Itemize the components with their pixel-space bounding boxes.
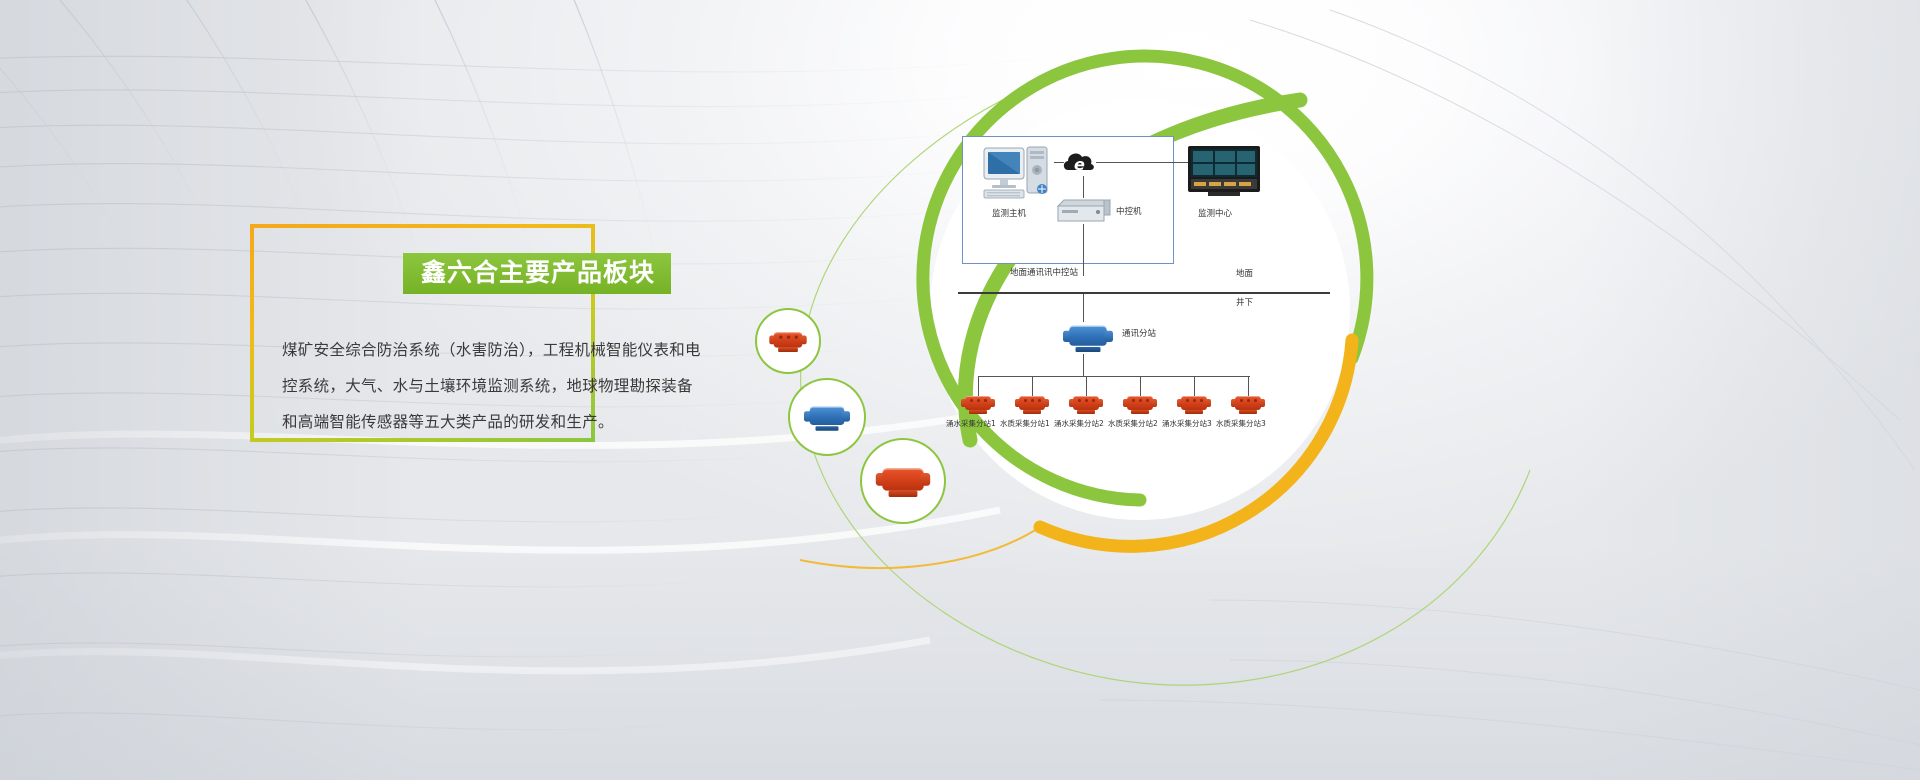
monitor-host-icon [982,144,1054,206]
product-bubble-3[interactable] [860,438,946,524]
substation-device [1231,394,1265,414]
label-underground: 井下 [1236,299,1253,308]
substation-device [1069,394,1103,414]
comm-substation-device [1063,322,1103,346]
substation-device [1123,394,1157,414]
label-ground-comm-station: 地面通讯讯中控站 [1010,269,1078,278]
product-bubble-1[interactable] [755,308,821,374]
page-title: 鑫六合主要产品板块 [421,260,655,285]
label-substation-3: 涌水采集分站2 [1054,420,1104,428]
internet-cloud-icon: e [1062,148,1096,178]
svg-text:e: e [1074,155,1085,174]
water-collection-box-orange-icon [876,465,930,497]
system-architecture-diagram: 监测主机 e 中控机 监测中心 [950,136,1345,476]
product-diagram-composition: 监测主机 e 中控机 监测中心 [740,40,1920,740]
label-monitor-center: 监测中心 [1198,210,1232,219]
label-central-controller: 中控机 [1116,208,1142,217]
substation-device [1177,394,1211,414]
explosion-proof-box-orange-icon [769,330,806,352]
page-title-banner: 鑫六合主要产品板块 [403,253,671,294]
substation-device [961,394,995,414]
label-substation-4: 水质采集分站2 [1108,420,1158,428]
label-substation-5: 涌水采集分站3 [1162,420,1212,428]
label-substation-6: 水质采集分站3 [1216,420,1266,428]
label-substation-1: 涌水采集分站1 [946,420,996,428]
panel-description: 煤矿安全综合防治系统（水害防治），工程机械智能仪表和电控系统，大气、水与土壤环境… [282,332,702,440]
label-comm-substation: 通讯分站 [1122,330,1156,339]
label-substation-2: 水质采集分站1 [1000,420,1050,428]
product-bubble-2[interactable] [788,378,866,456]
monitor-center-icon [1188,146,1260,198]
central-controller-icon [1054,196,1112,226]
label-monitor-host: 监测主机 [992,210,1026,219]
communication-box-blue-icon [804,403,850,431]
label-ground: 地面 [1236,270,1253,279]
substation-device [1015,394,1049,414]
